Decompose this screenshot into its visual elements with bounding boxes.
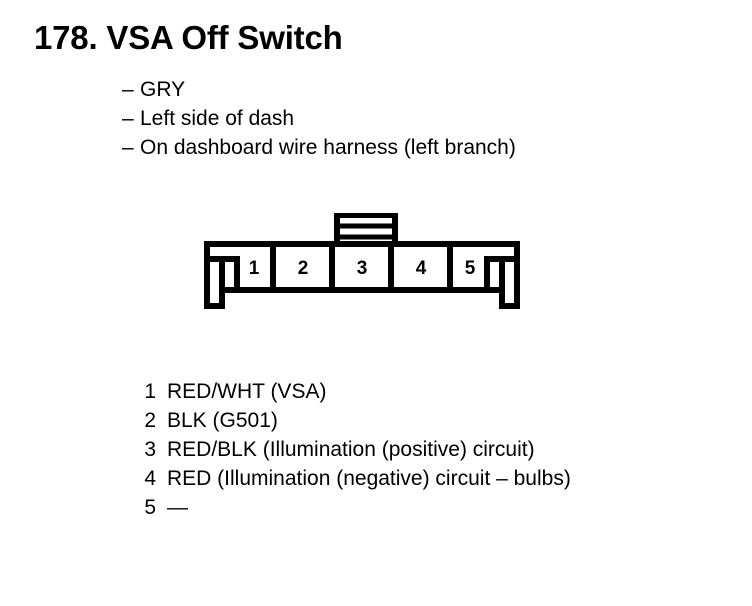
legend-row: 1 RED/WHT (VSA) (130, 377, 571, 406)
cavity-number-4: 4 (416, 258, 427, 279)
legend-pin-description: — (167, 493, 188, 522)
attribute-text: Left side of dash (140, 104, 294, 133)
cavity-number-5: 5 (465, 258, 476, 279)
dash-bullet-icon: – (122, 104, 140, 133)
legend-pin-number: 4 (130, 464, 167, 493)
latch-tab-icon (337, 215, 395, 244)
dash-bullet-icon: – (122, 133, 140, 162)
connector-diagram: 1 2 3 4 5 (197, 213, 527, 323)
list-item: – GRY (122, 75, 516, 104)
list-item: – On dashboard wire harness (left branch… (122, 133, 516, 162)
legend-row: 2 BLK (G501) (130, 406, 571, 435)
legend-pin-number: 5 (130, 493, 167, 522)
legend-row: 4 RED (Illumination (negative) circuit –… (130, 464, 571, 493)
list-item: – Left side of dash (122, 104, 516, 133)
attribute-list: – GRY – Left side of dash – On dashboard… (122, 75, 516, 162)
attribute-text: On dashboard wire harness (left branch) (140, 133, 516, 162)
legend-pin-description: BLK (G501) (167, 406, 278, 435)
legend-pin-number: 1 (130, 377, 167, 406)
legend-pin-number: 3 (130, 435, 167, 464)
legend-pin-description: RED (Illumination (negative) circuit – b… (167, 464, 571, 493)
legend-pin-number: 2 (130, 406, 167, 435)
cavity-number-1: 1 (249, 258, 260, 279)
cavity-number-2: 2 (298, 258, 309, 279)
legend-row: 3 RED/BLK (Illumination (positive) circu… (130, 435, 571, 464)
legend-row: 5 — (130, 493, 571, 522)
attribute-text: GRY (140, 75, 185, 104)
legend-pin-description: RED/WHT (VSA) (167, 377, 326, 406)
pin-legend: 1 RED/WHT (VSA) 2 BLK (G501) 3 RED/BLK (… (130, 377, 571, 522)
legend-pin-description: RED/BLK (Illumination (positive) circuit… (167, 435, 535, 464)
dash-bullet-icon: – (122, 75, 140, 104)
page-title: 178. VSA Off Switch (34, 21, 343, 54)
cavity-number-3: 3 (357, 258, 368, 279)
